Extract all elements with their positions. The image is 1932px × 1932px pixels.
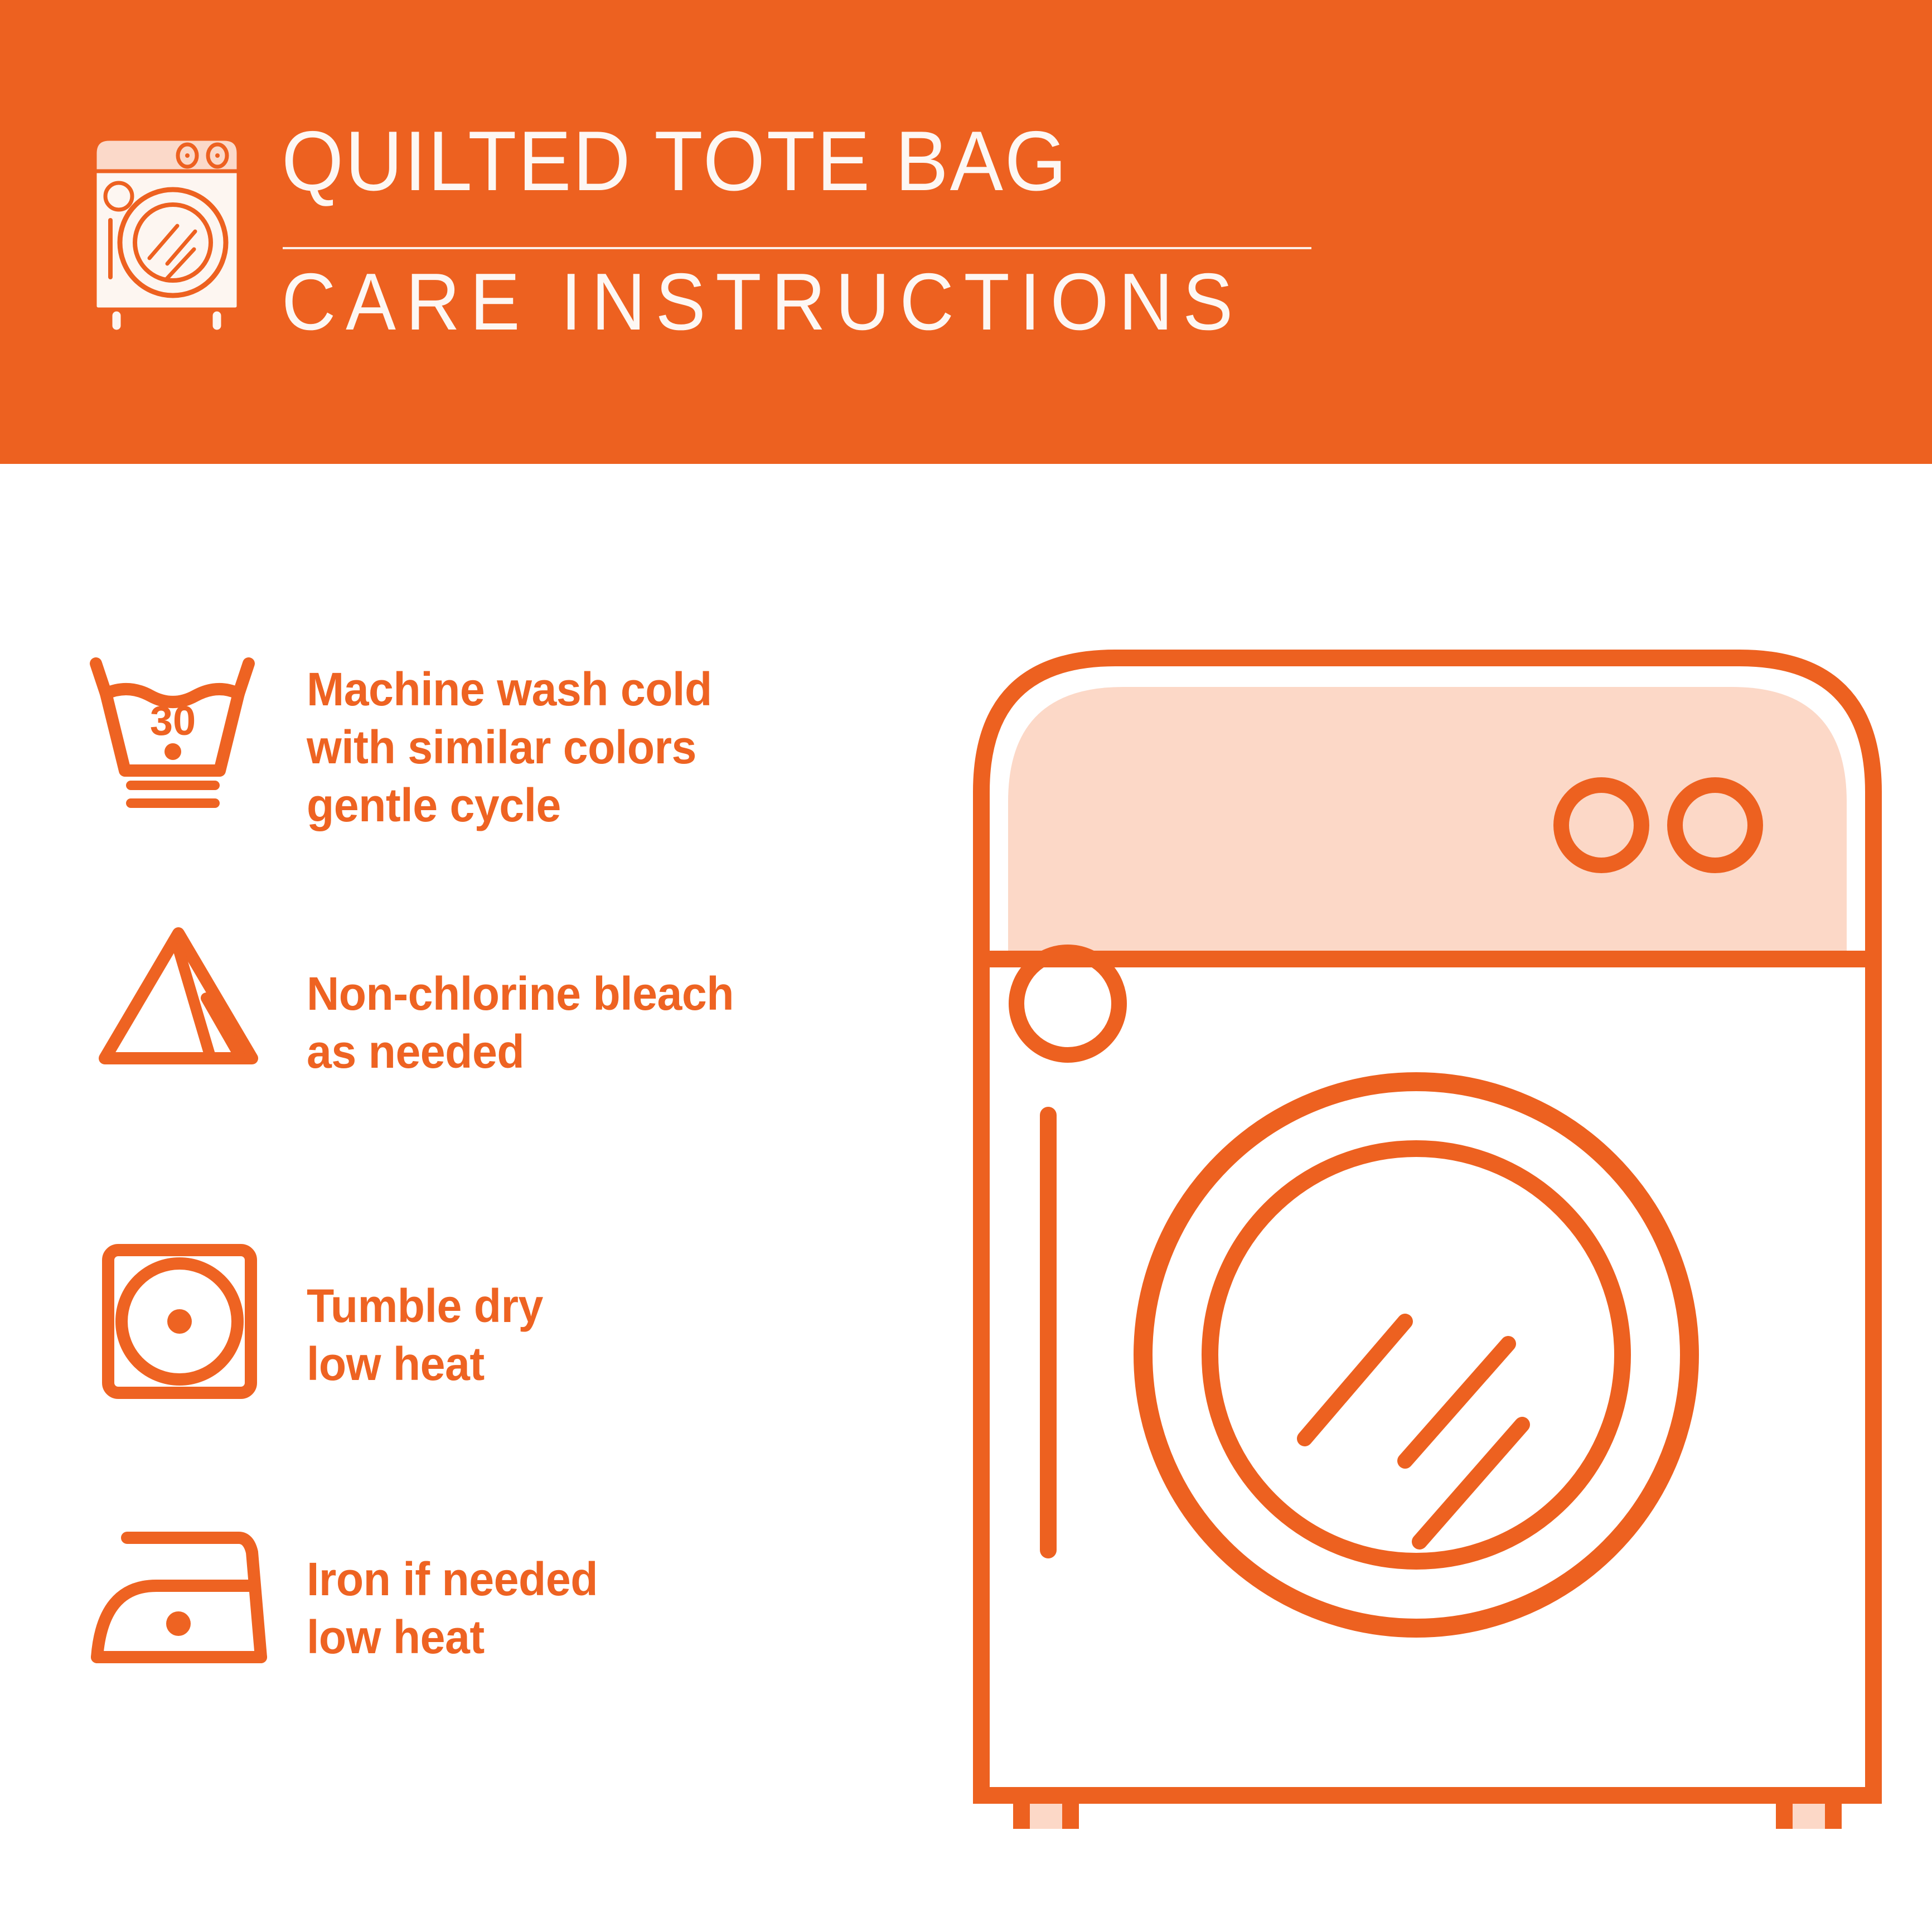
front-load-washing-machine-illustration bbox=[959, 624, 1896, 1829]
bleach-triangle-nonchlorine-icon bbox=[84, 914, 307, 1082]
care-row-machine-wash: 30 Machine wash cold with similar colors… bbox=[84, 652, 942, 834]
care-label-line: as needed bbox=[307, 1023, 917, 1081]
care-label-bleach: Non-chlorine bleach as needed bbox=[307, 914, 917, 1081]
care-label-line: Iron if needed bbox=[307, 1550, 917, 1608]
care-label-line: Machine wash cold bbox=[307, 660, 917, 718]
care-label-machine-wash: Machine wash cold with similar colors ge… bbox=[307, 652, 917, 834]
washing-machine-icon bbox=[84, 131, 262, 337]
page-title: QUILTED TOTE BAG bbox=[282, 119, 1068, 204]
wash-basin-30-gentle-icon: 30 bbox=[84, 652, 307, 820]
care-label-line: Non-chlorine bleach bbox=[307, 965, 917, 1023]
care-instructions-page: QUILTED TOTE BAG CARE INSTRUCTIONS 30 bbox=[0, 0, 1932, 1932]
header-text-block: QUILTED TOTE BAG CARE INSTRUCTIONS bbox=[282, 125, 1335, 360]
header-content: QUILTED TOTE BAG CARE INSTRUCTIONS bbox=[84, 125, 1338, 360]
wash-temperature-label: 30 bbox=[150, 698, 196, 744]
care-label-line: with similar colors bbox=[307, 718, 917, 776]
header-band: QUILTED TOTE BAG CARE INSTRUCTIONS bbox=[0, 0, 1932, 464]
care-row-tumble-dry: Tumble dry low heat bbox=[84, 1238, 942, 1405]
care-row-bleach: Non-chlorine bleach as needed bbox=[84, 914, 942, 1082]
iron-low-heat-icon bbox=[84, 1511, 307, 1678]
care-label-line: Tumble dry bbox=[307, 1277, 917, 1335]
tumble-dry-low-icon bbox=[84, 1238, 307, 1405]
care-label-line: low heat bbox=[307, 1335, 917, 1393]
care-label-tumble-dry: Tumble dry low heat bbox=[307, 1238, 917, 1393]
knob-right bbox=[1675, 785, 1755, 865]
care-label-iron: Iron if needed low heat bbox=[307, 1511, 917, 1666]
header-divider bbox=[283, 247, 1311, 249]
knob-left bbox=[1561, 785, 1642, 865]
care-row-iron: Iron if needed low heat bbox=[84, 1511, 942, 1678]
page-subtitle: CARE INSTRUCTIONS bbox=[282, 262, 1243, 342]
care-label-line: low heat bbox=[307, 1608, 917, 1666]
care-label-line: gentle cycle bbox=[307, 776, 917, 834]
